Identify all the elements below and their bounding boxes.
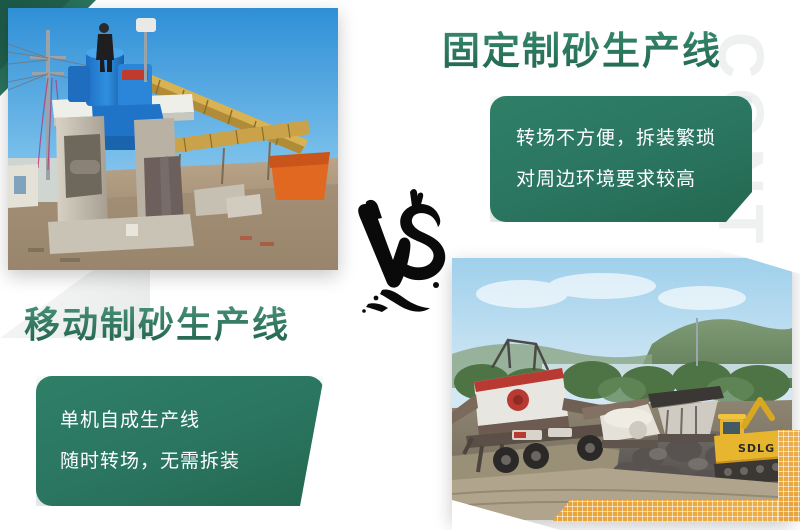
- photo-mobile-sand-line: SDLG: [452, 258, 792, 520]
- vs-badge: [352, 178, 452, 318]
- photo-fixed-sand-line-artwork: [8, 8, 338, 270]
- title-mobile-line: 移动制砂生产线: [24, 296, 290, 348]
- vs-badge-artwork: [352, 178, 452, 318]
- orange-dot-band-right: [778, 430, 800, 522]
- panel-mobile-line-item-2: 随时转场，无需拆装: [60, 452, 324, 471]
- panel-mobile-line-item-1: 单机自成生产线: [60, 411, 324, 430]
- photo-fixed-sand-line: [8, 8, 338, 270]
- svg-text:SDLG: SDLG: [738, 442, 775, 455]
- photo-mobile-sand-line-artwork: SDLG: [452, 258, 792, 520]
- comparison-banner: CONTE: [0, 0, 800, 530]
- panel-mobile-line-benefits: 单机自成生产线 随时转场，无需拆装: [36, 376, 324, 506]
- panel-fixed-line-item-2: 对周边环境要求较高: [516, 170, 752, 189]
- orange-dot-band-bottom: [552, 500, 800, 522]
- title-fixed-line: 固定制砂生产线: [442, 20, 722, 75]
- panel-fixed-line-drawbacks: 转场不方便，拆装繁琐 对周边环境要求较高: [490, 96, 752, 222]
- panel-fixed-line-item-1: 转场不方便，拆装繁琐: [516, 129, 752, 148]
